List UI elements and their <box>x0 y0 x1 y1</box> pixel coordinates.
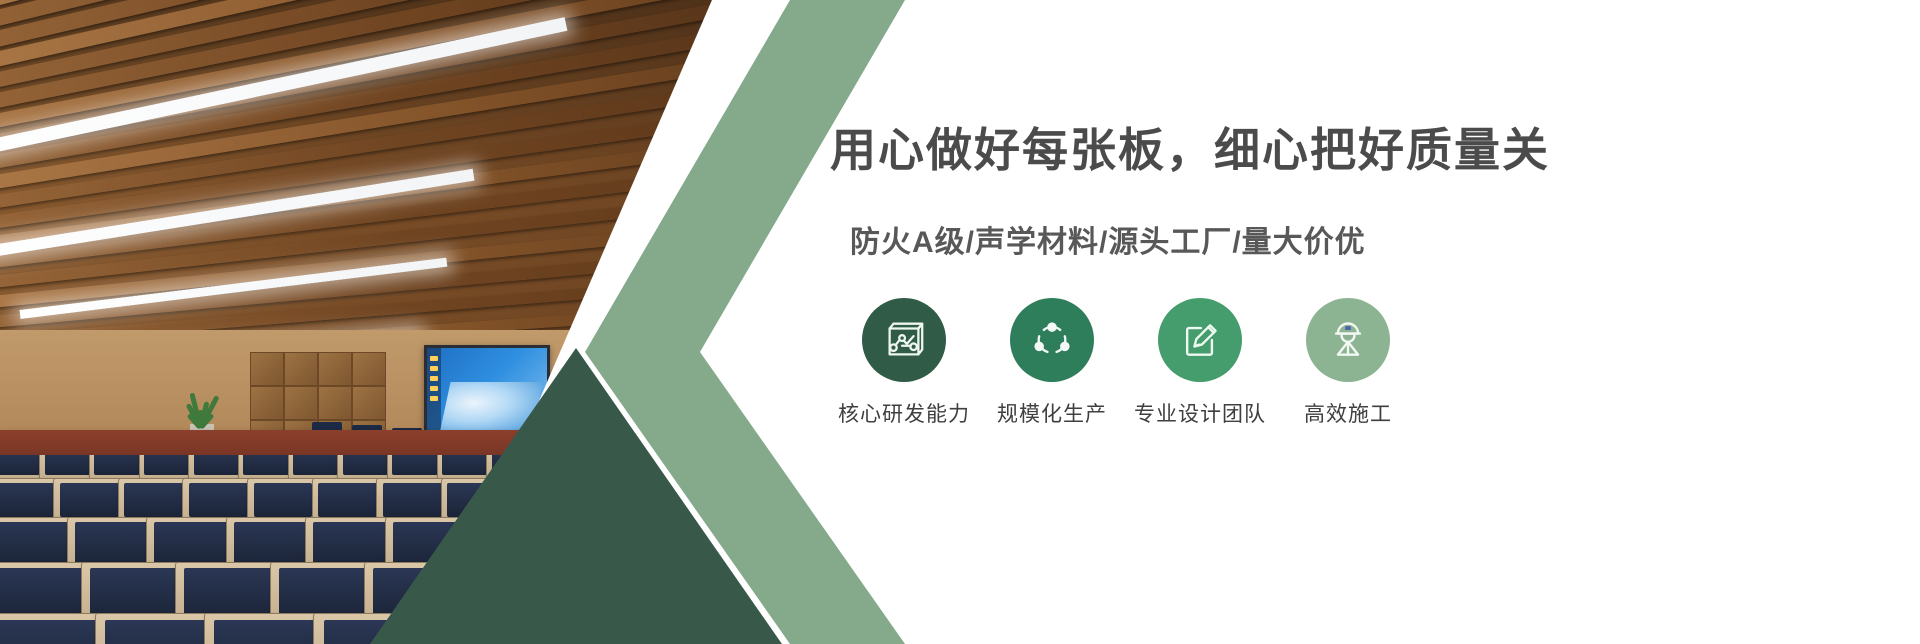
feature-item-core-rd[interactable]: 核心研发能力 <box>830 298 978 425</box>
screen-icon <box>430 376 438 381</box>
screen-icon <box>430 366 438 371</box>
feature-item-design-team[interactable]: 专业设计团队 <box>1126 298 1274 425</box>
feature-icon-circle <box>1158 298 1242 382</box>
seat-back <box>45 455 90 475</box>
pencil-edit-icon <box>1178 318 1222 362</box>
research-box-icon <box>881 317 927 363</box>
seat-back <box>790 455 835 475</box>
seat-back <box>94 455 139 475</box>
seat-back <box>343 455 388 475</box>
seat-back <box>124 483 183 518</box>
feature-icon-circle <box>1010 298 1094 382</box>
feature-label: 高效施工 <box>1304 404 1392 425</box>
seat-back <box>0 455 40 475</box>
feature-icon-circle <box>1306 298 1390 382</box>
wall-panel <box>352 352 386 386</box>
wall-panel <box>284 352 318 386</box>
hardhat-worker-icon <box>1326 318 1370 362</box>
wall-panel <box>318 352 352 386</box>
screen-icon <box>430 396 438 401</box>
banner-subheadline: 防火A级/声学材料/源头工厂/量大价优 <box>850 228 1366 258</box>
seat-back <box>279 568 365 619</box>
seat-back <box>90 568 176 619</box>
seat-back <box>75 522 148 565</box>
banner-content: 用心做好每张板，细心把好质量关 防火A级/声学材料/源头工厂/量大价优 <box>830 0 1830 644</box>
seat-back <box>105 620 205 644</box>
wall-panel <box>284 386 318 420</box>
promo-banner: 用心做好每张板，细心把好质量关 防火A级/声学材料/源头工厂/量大价优 <box>0 0 1920 644</box>
wall-panel <box>250 386 284 420</box>
seat-back <box>254 483 313 518</box>
seat-back <box>442 455 487 475</box>
auditorium-seat <box>95 613 216 644</box>
screen-icon <box>430 386 438 391</box>
seat-back <box>0 522 68 565</box>
seat-back <box>214 620 314 644</box>
feature-item-efficient-construction[interactable]: 高效施工 <box>1274 298 1422 425</box>
seat-back <box>194 455 239 475</box>
feature-item-scaled-production[interactable]: 规模化生产 <box>978 298 1126 425</box>
feature-label: 核心研发能力 <box>838 404 970 425</box>
auditorium-seat <box>204 613 325 644</box>
wall-panel <box>318 386 352 420</box>
feature-icon-circle <box>862 298 946 382</box>
auditorium-seat <box>0 613 106 644</box>
seat-back <box>154 522 227 565</box>
seat-back <box>144 455 189 475</box>
seat-back <box>313 522 386 565</box>
feature-list: 核心研发能力 规模化生产 <box>830 298 1422 425</box>
seat-back <box>383 483 442 518</box>
seat-back <box>189 483 248 518</box>
screen-icon <box>430 356 438 361</box>
seat-back <box>392 455 437 475</box>
seat-back <box>318 483 377 518</box>
feature-label: 专业设计团队 <box>1134 404 1266 425</box>
feature-label: 规模化生产 <box>997 404 1107 425</box>
wall-panel <box>352 386 386 420</box>
seat-back <box>0 568 82 619</box>
seat-back <box>0 483 54 518</box>
seat-back <box>60 483 119 518</box>
network-nodes-icon <box>1030 318 1074 362</box>
banner-headline: 用心做好每张板，细心把好质量关 <box>830 127 1550 173</box>
seat-back <box>184 568 270 619</box>
seat-back <box>293 455 338 475</box>
seat-back <box>234 522 307 565</box>
seat-back <box>243 455 288 475</box>
wall-panel <box>250 352 284 386</box>
seat-back <box>0 620 96 644</box>
